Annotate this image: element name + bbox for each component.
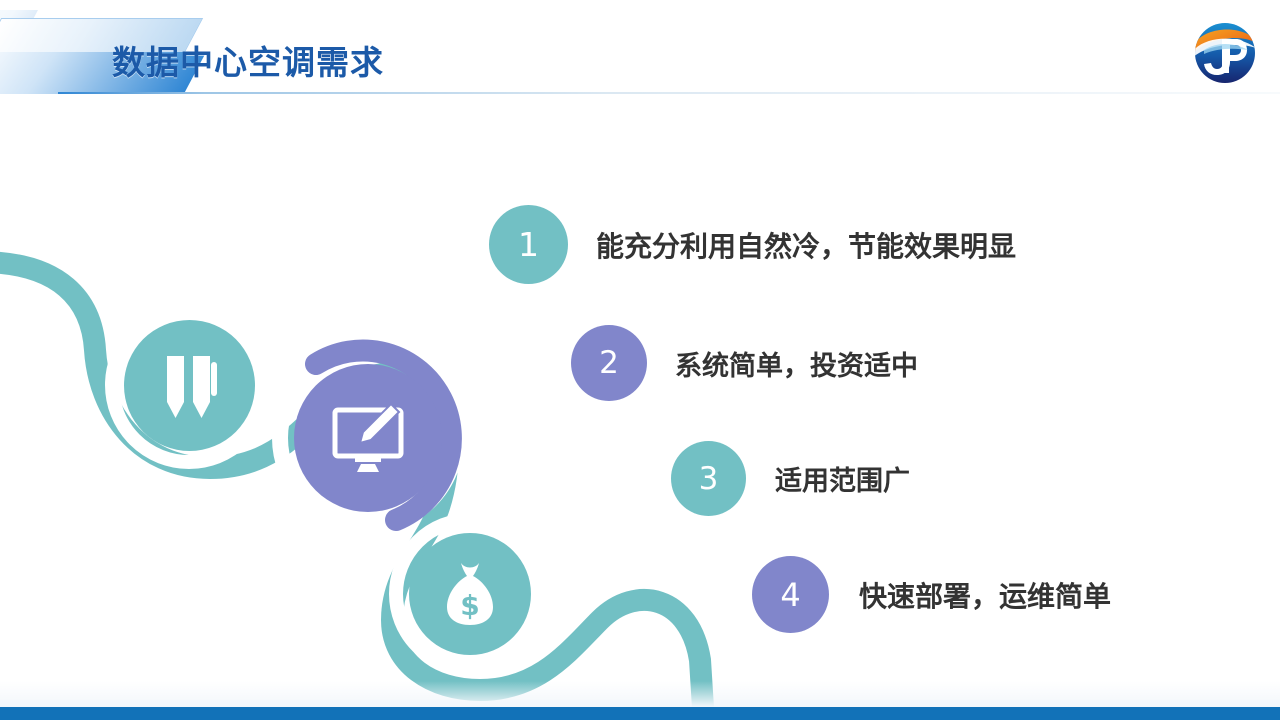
- item-label: 适用范围广: [775, 459, 910, 498]
- list-item[interactable]: 3 适用范围广: [671, 441, 910, 516]
- pencils-icon: [124, 320, 255, 451]
- item-number-badge: 2: [571, 325, 647, 401]
- footer-accent-bar: [0, 707, 1280, 720]
- monitor-edit-icon: [294, 364, 442, 512]
- list-item[interactable]: 2 系统简单，投资适中: [571, 325, 918, 401]
- item-number-badge: 4: [752, 556, 829, 633]
- item-number-badge: 3: [671, 441, 746, 516]
- money-bag-icon: $: [409, 533, 531, 655]
- list-item[interactable]: 1 能充分利用自然冷，节能效果明显: [489, 205, 1016, 284]
- item-label: 能充分利用自然冷，节能效果明显: [596, 225, 1016, 265]
- slide-canvas: 数据中心空调需求: [0, 0, 1280, 720]
- footer-fade: [0, 681, 1280, 707]
- item-label: 系统简单，投资适中: [675, 344, 918, 383]
- item-label: 快速部署，运维简单: [859, 575, 1111, 615]
- list-item[interactable]: 4 快速部署，运维简单: [752, 556, 1111, 633]
- svg-text:$: $: [460, 589, 479, 622]
- item-number-badge: 1: [489, 205, 568, 284]
